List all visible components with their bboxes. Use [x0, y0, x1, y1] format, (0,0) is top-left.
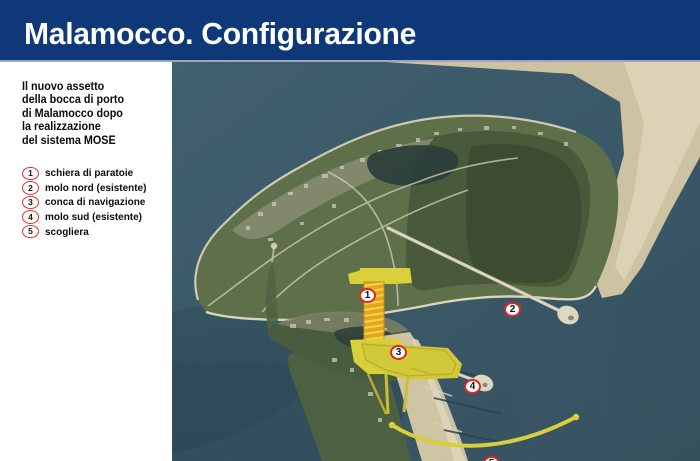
legend-number-icon: 1	[22, 167, 39, 181]
legend-item-label: molo nord (esistente)	[45, 182, 146, 194]
legend-number-icon: 3	[22, 196, 39, 210]
legend-item-label: scogliera	[45, 226, 89, 238]
page-title: Malamocco. Configurazione	[24, 16, 416, 52]
legend-item-label: schiera di paratoie	[45, 167, 133, 179]
legend-item-1: 1 schiera di paratoie	[22, 166, 172, 181]
map-marker-4-molo-sud[interactable]: 4	[464, 379, 481, 394]
map-marker-1-schiera-di-paratoie[interactable]: 1	[359, 288, 376, 303]
infographic-page: Malamocco. Configurazione Il nuovo asset…	[0, 0, 700, 461]
map-marker-3-conca-di-navigazione[interactable]: 3	[390, 345, 407, 360]
legend-number-icon: 5	[22, 225, 39, 239]
legend-item-5: 5 scogliera	[22, 224, 172, 239]
legend-item-label: conca di navigazione	[45, 196, 145, 208]
legend-item-2: 2 molo nord (esistente)	[22, 181, 172, 196]
legend-item-3: 3 conca di navigazione	[22, 195, 172, 210]
legend-panel: Il nuovo assetto della bocca di porto di…	[0, 62, 172, 461]
legend-number-icon: 4	[22, 210, 39, 224]
map-graphic	[172, 62, 700, 461]
legend-intro-text: Il nuovo assetto della bocca di porto di…	[22, 81, 163, 148]
legend-number-icon: 2	[22, 181, 39, 195]
legend-item-4: 4 molo sud (esistente)	[22, 210, 172, 225]
legend-item-label: molo sud (esistente)	[45, 211, 142, 223]
header-bar: Malamocco. Configurazione	[0, 0, 700, 62]
aerial-map: 1 2 3 4 5	[172, 62, 700, 461]
map-marker-2-molo-nord[interactable]: 2	[504, 302, 521, 317]
legend-list: 1 schiera di paratoie 2 molo nord (esist…	[22, 166, 172, 239]
